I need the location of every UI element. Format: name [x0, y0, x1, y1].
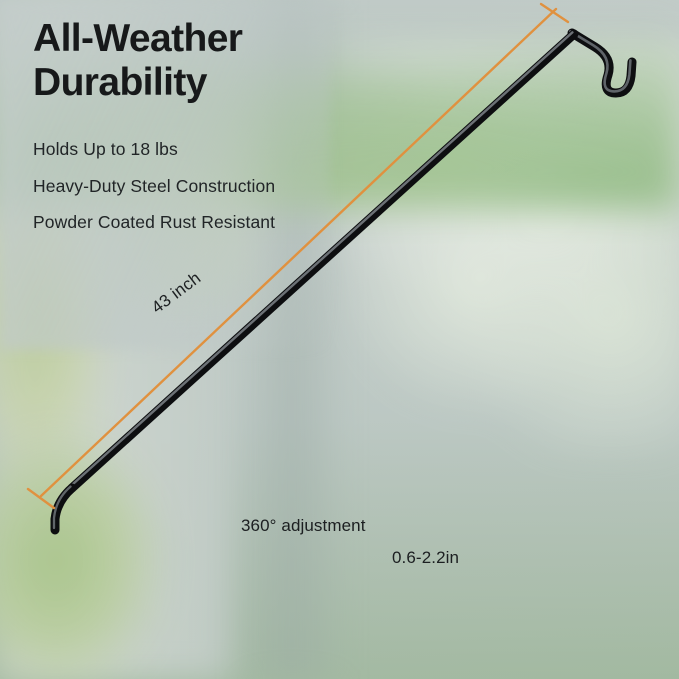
- product-infographic: All-Weather Durability Holds Up to 18 lb…: [0, 0, 679, 679]
- feature-list: Holds Up to 18 lbs Heavy-Duty Steel Cons…: [33, 141, 275, 251]
- feature-item-coating: Powder Coated Rust Resistant: [33, 214, 275, 232]
- headline-line-1: All-Weather: [33, 17, 363, 61]
- feature-item-capacity: Holds Up to 18 lbs: [33, 141, 275, 159]
- feature-item-construction: Heavy-Duty Steel Construction: [33, 178, 275, 196]
- headline-line-2: Durability: [33, 61, 363, 105]
- headline: All-Weather Durability: [33, 17, 363, 105]
- thickness-caption: 0.6-2.2in: [392, 548, 459, 568]
- rotation-caption: 360° adjustment: [241, 516, 366, 536]
- hook-arm: [54, 31, 632, 530]
